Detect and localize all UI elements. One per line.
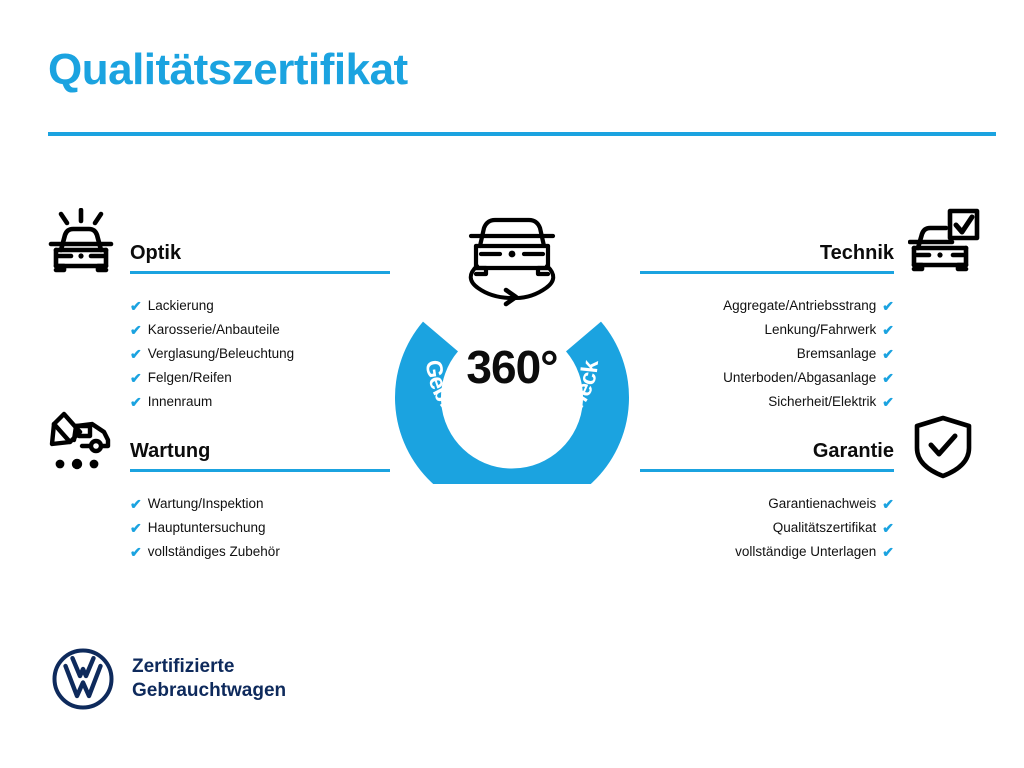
check-icon: ✔: [130, 347, 142, 361]
list-item-label: Hauptuntersuchung: [148, 516, 266, 540]
vw-footer-line1: Zertifizierte: [132, 655, 286, 679]
section-optik-header: Optik: [130, 240, 390, 280]
check-icon: ✔: [130, 323, 142, 337]
list-item: ✔ Innenraum: [130, 390, 390, 414]
list-item: Qualitätszertifikat ✔: [640, 516, 894, 540]
vw-footer-text: Zertifizierte Gebrauchtwagen: [132, 655, 286, 703]
section-optik-divider: [130, 271, 390, 274]
section-garantie: Garantie Garantienachweis ✔ Qualitätszer…: [640, 438, 894, 564]
list-item-label: Lenkung/Fahrwerk: [764, 318, 876, 342]
list-item-label: Garantienachweis: [768, 492, 876, 516]
list-item: Aggregate/Antriebsstrang ✔: [640, 294, 894, 318]
list-item: ✔ vollständiges Zubehör: [130, 540, 390, 564]
section-optik-list: ✔ Lackierung ✔ Karosserie/Anbauteile ✔ V…: [130, 294, 390, 414]
section-wartung-header: Wartung: [130, 438, 390, 478]
list-item-label: vollständiges Zubehör: [148, 540, 280, 564]
list-item: Lenkung/Fahrwerk ✔: [640, 318, 894, 342]
certificate-page: Qualitätszertifikat Optik: [0, 0, 1024, 768]
list-item-label: Verglasung/Beleuchtung: [148, 342, 294, 366]
list-item: Bremsanlage ✔: [640, 342, 894, 366]
list-item: ✔ Karosserie/Anbauteile: [130, 318, 390, 342]
list-item-label: Unterboden/Abgasanlage: [723, 366, 876, 390]
check-icon: ✔: [130, 299, 142, 313]
car-rotation-icon: [471, 220, 554, 304]
list-item-label: Innenraum: [148, 390, 213, 414]
list-item-label: vollständige Unterlagen: [735, 540, 876, 564]
list-item: ✔ Wartung/Inspektion: [130, 492, 390, 516]
list-item: ✔ Felgen/Reifen: [130, 366, 390, 390]
section-technik-list: Aggregate/Antriebsstrang ✔ Lenkung/Fahrw…: [640, 294, 894, 414]
list-item: vollständige Unterlagen ✔: [640, 540, 894, 564]
check-icon: ✔: [882, 347, 894, 361]
check-icon: ✔: [130, 521, 142, 535]
section-technik-header: Technik: [640, 240, 894, 280]
section-wartung-list: ✔ Wartung/Inspektion ✔ Hauptuntersuchung…: [130, 492, 390, 564]
section-technik-title: Technik: [640, 240, 894, 266]
check-icon: ✔: [882, 371, 894, 385]
list-item: ✔ Verglasung/Beleuchtung: [130, 342, 390, 366]
section-garantie-divider: [640, 469, 894, 472]
section-optik: Optik ✔ Lackierung ✔ Karosserie/Anbautei…: [130, 240, 390, 414]
check-icon: ✔: [882, 323, 894, 337]
list-item: ✔ Lackierung: [130, 294, 390, 318]
section-wartung-title: Wartung: [130, 438, 390, 464]
car-front-checkbox-icon: [908, 208, 980, 279]
check-icon: ✔: [130, 371, 142, 385]
section-technik-divider: [640, 271, 894, 274]
section-optik-title: Optik: [130, 240, 390, 266]
header-divider: [48, 132, 996, 136]
section-garantie-header: Garantie: [640, 438, 894, 478]
check-icon: ✔: [882, 521, 894, 535]
list-item-label: Bremsanlage: [797, 342, 877, 366]
check-icon: ✔: [130, 545, 142, 559]
check-icon: ✔: [130, 497, 142, 511]
list-item: Unterboden/Abgasanlage ✔: [640, 366, 894, 390]
check-icon: ✔: [882, 497, 894, 511]
section-wartung-divider: [130, 469, 390, 472]
list-item: Garantienachweis ✔: [640, 492, 894, 516]
list-item-label: Wartung/Inspektion: [148, 492, 264, 516]
vw-footer-line2: Gebrauchtwagen: [132, 679, 286, 703]
section-technik: Technik Aggregate/Antriebsstrang ✔ Lenku…: [640, 240, 894, 414]
badge-center-value: 360°: [374, 340, 650, 394]
360-check-badge: Gebrauchtwagen-Check 360°: [374, 198, 650, 484]
list-item-label: Karosserie/Anbauteile: [148, 318, 280, 342]
list-item-label: Aggregate/Antriebsstrang: [723, 294, 876, 318]
page-title: Qualitätszertifikat: [48, 46, 408, 94]
car-front-shine-icon: [46, 208, 116, 279]
check-icon: ✔: [882, 395, 894, 409]
list-item: Sicherheit/Elektrik ✔: [640, 390, 894, 414]
check-icon: ✔: [882, 545, 894, 559]
list-item-label: Qualitätszertifikat: [773, 516, 877, 540]
vw-footer-lockup: Zertifizierte Gebrauchtwagen: [52, 648, 286, 710]
section-garantie-list: Garantienachweis ✔ Qualitätszertifikat ✔…: [640, 492, 894, 564]
check-icon: ✔: [882, 299, 894, 313]
service-pencil-car-icon: [46, 410, 116, 477]
list-item-label: Sicherheit/Elektrik: [768, 390, 876, 414]
list-item-label: Felgen/Reifen: [148, 366, 232, 390]
vw-logo: [52, 648, 114, 710]
list-item-label: Lackierung: [148, 294, 214, 318]
section-garantie-title: Garantie: [640, 438, 894, 464]
check-icon: ✔: [130, 395, 142, 409]
section-wartung: Wartung ✔ Wartung/Inspektion ✔ Hauptunte…: [130, 438, 390, 564]
shield-check-icon: [912, 414, 974, 485]
list-item: ✔ Hauptuntersuchung: [130, 516, 390, 540]
